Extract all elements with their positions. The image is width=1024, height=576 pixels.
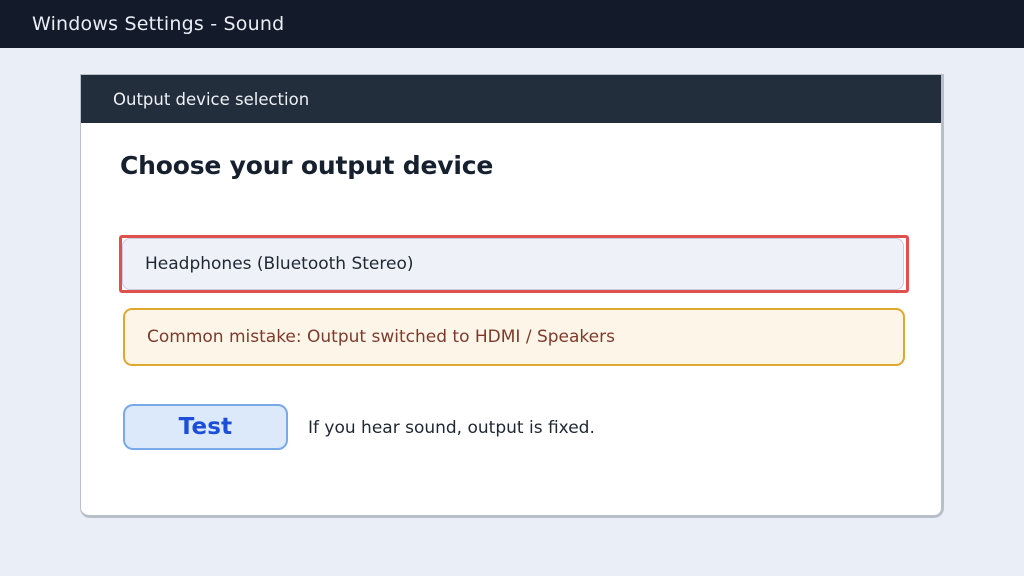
common-mistake-banner: Common mistake: Output switched to HDMI …	[123, 308, 905, 366]
output-device-value: Headphones (Bluetooth Stereo)	[145, 254, 414, 274]
output-device-select[interactable]: Headphones (Bluetooth Stereo)	[122, 238, 904, 290]
settings-card: Output device selection Choose your outp…	[80, 74, 944, 518]
test-hint-text: If you hear sound, output is fixed.	[308, 418, 595, 438]
card-header-title: Output device selection	[113, 90, 309, 109]
window-title-bar: Windows Settings - Sound	[0, 0, 1024, 48]
card-header: Output device selection	[81, 75, 941, 123]
app-screen: Windows Settings - Sound Output device s…	[0, 0, 1024, 576]
test-button-label: Test	[179, 414, 233, 440]
test-button[interactable]: Test	[123, 404, 288, 450]
window-title: Windows Settings - Sound	[32, 13, 284, 35]
common-mistake-text: Common mistake: Output switched to HDMI …	[147, 327, 615, 347]
page-title: Choose your output device	[120, 151, 493, 180]
